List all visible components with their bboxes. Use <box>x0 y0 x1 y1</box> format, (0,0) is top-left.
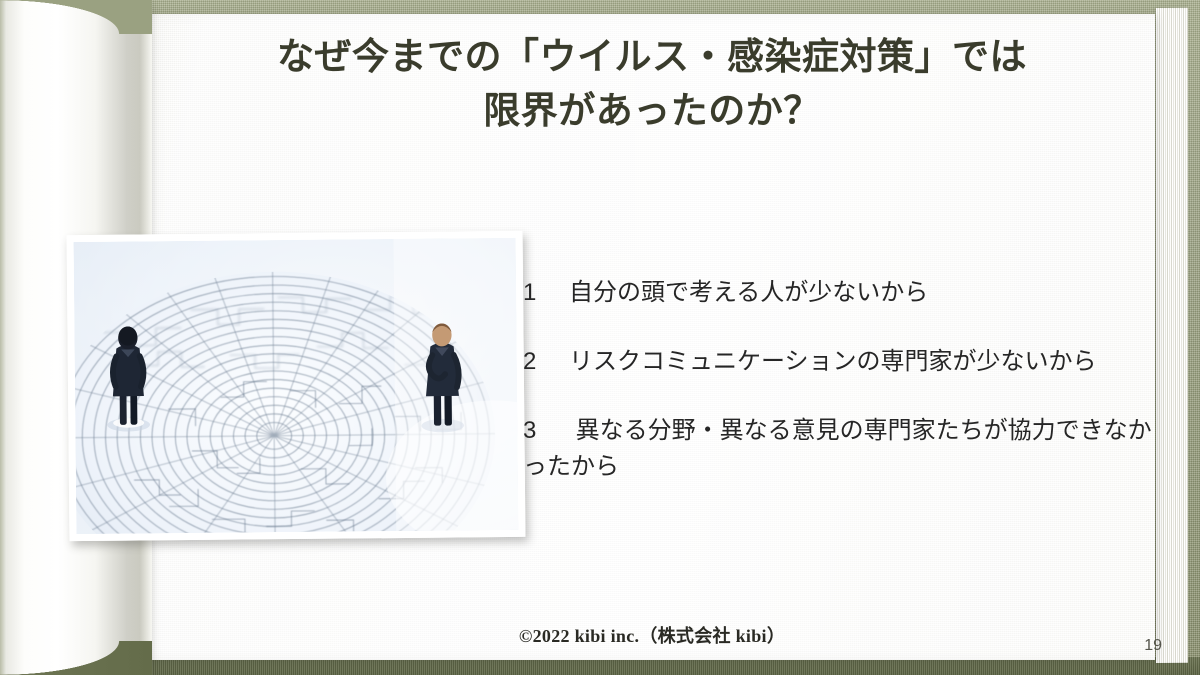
maze-photo <box>74 238 519 534</box>
gutter-bottom-curve <box>0 641 152 675</box>
list-item-label: リスクコミュニケーションの専門家が少ないから <box>569 344 1163 380</box>
list-item: 2 リスクコミュニケーションの専門家が少ないから <box>523 344 1163 380</box>
list-item: 1 自分の頭で考える人が少ないから <box>523 275 1163 311</box>
gutter-top-curve <box>0 0 152 34</box>
list-item-number: 1 <box>523 275 569 311</box>
page-number: 19 <box>1144 637 1162 655</box>
list-item-number: 3 <box>523 413 569 449</box>
footer-copyright: ©2022 kibi inc.（株式会社 kibi） <box>152 622 1152 648</box>
slide-title: なぜ今までの「ウイルス・感染症対策」では 限界があったのか？ <box>152 30 1152 137</box>
list-item-number: 2 <box>523 344 569 380</box>
maze-photo-frame <box>67 231 526 541</box>
list-item-label: 異なる分野・異なる意見の専門家たちが協力できなかったから <box>523 417 1152 480</box>
slide-root: なぜ今までの「ウイルス・感染症対策」では 限界があったのか？ <box>0 0 1200 675</box>
reasons-list: 1 自分の頭で考える人が少ないから 2 リスクコミュニケーションの専門家が少ない… <box>523 275 1163 485</box>
list-item: 3 異なる分野・異なる意見の専門家たちが協力できなかったから <box>523 413 1163 485</box>
list-item-label: 自分の頭で考える人が少ないから <box>569 275 1163 311</box>
